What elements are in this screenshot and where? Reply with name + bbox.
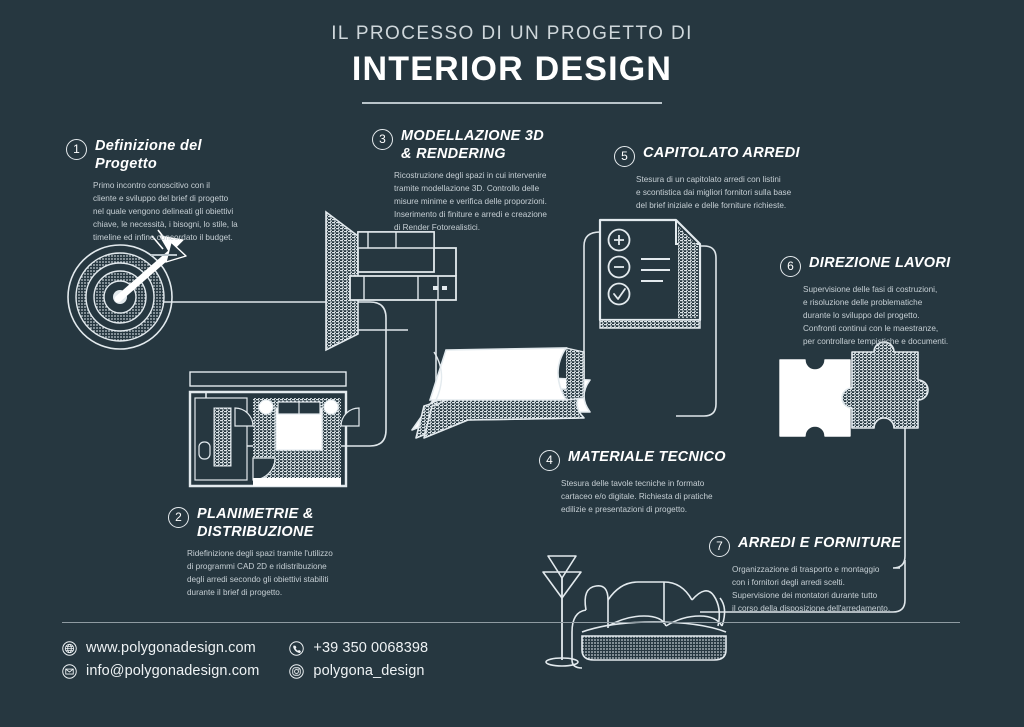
envelope-icon	[62, 664, 77, 679]
phone-icon	[289, 641, 304, 656]
puzzle-pieces-icon	[780, 342, 928, 436]
step-4-heading: 4 MATERIALE TECNICO	[539, 449, 744, 471]
contact-phone-text: +39 350 0068398	[313, 640, 428, 656]
step-3: 3 MODELLAZIONE 3D & RENDERING Ricostruzi…	[372, 128, 577, 235]
step-6-number: 6	[780, 256, 801, 277]
step-3-number: 3	[372, 129, 393, 150]
step-5-body: Stesura di un capitolato arredi con list…	[636, 174, 826, 213]
step-5-title: CAPITOLATO ARREDI	[643, 145, 800, 163]
step-7-heading: 7 ARREDI E FORNITURE	[709, 535, 914, 557]
step-6-heading: 6 DIREZIONE LAVORI	[780, 255, 980, 277]
step-6-body: Supervisione delle fasi di costruzioni, …	[803, 284, 978, 349]
step-1-underline	[151, 254, 177, 256]
poster-header: IL PROCESSO DI UN PROGETTO DI INTERIOR D…	[0, 24, 1024, 104]
step-2: 2 PLANIMETRIE & DISTRIBUZIONE Ridefinizi…	[168, 506, 383, 600]
step-7-body: Organizzazione di trasporto e montaggio …	[732, 564, 912, 616]
step-4-number: 4	[539, 450, 560, 471]
step-5-heading: 5 CAPITOLATO ARREDI	[614, 145, 824, 167]
step-2-heading: 2 PLANIMETRIE & DISTRIBUZIONE	[168, 506, 383, 541]
step-6-title: DIREZIONE LAVORI	[809, 255, 950, 273]
step-1-number: 1	[66, 139, 87, 160]
floor-plan-icon	[190, 372, 359, 486]
document-checklist-icon	[600, 220, 700, 328]
step-6: 6 DIREZIONE LAVORI Supervisione delle fa…	[780, 255, 980, 349]
step-3-heading: 3 MODELLAZIONE 3D & RENDERING	[372, 128, 577, 163]
step-5-number: 5	[614, 146, 635, 167]
contact-website[interactable]: www.polygonadesign.com	[62, 640, 259, 656]
step-3-body: Ricostruzione degli spazi in cui interve…	[394, 170, 574, 235]
page-title: INTERIOR DESIGN	[0, 51, 1024, 88]
step-2-title: PLANIMETRIE & DISTRIBUZIONE	[197, 506, 314, 541]
contact-phone[interactable]: +39 350 0068398	[289, 640, 428, 656]
instagram-icon	[289, 664, 304, 679]
header-kicker: IL PROCESSO DI UN PROGETTO DI	[0, 24, 1024, 45]
footer-divider	[62, 622, 960, 623]
contact-instagram[interactable]: polygona_design	[289, 663, 428, 679]
step-5: 5 CAPITOLATO ARREDI Stesura di un capito…	[614, 145, 824, 213]
step-7-number: 7	[709, 536, 730, 557]
sofa-lamp-icon	[543, 556, 726, 668]
globe-icon	[62, 641, 77, 656]
step-7-title: ARREDI E FORNITURE	[738, 535, 901, 553]
step-4-title: MATERIALE TECNICO	[568, 449, 726, 467]
step-7: 7 ARREDI E FORNITURE Organizzazione di t…	[709, 535, 914, 616]
step-4: 4 MATERIALE TECNICO Stesura delle tavole…	[539, 449, 744, 517]
step-1-title: Definizione del Progetto	[95, 138, 266, 173]
footer-contacts: www.polygonadesign.com info@polygonadesi…	[62, 640, 428, 679]
step-1-body: Primo incontro conoscitivo con il client…	[93, 180, 253, 245]
contact-column-right: +39 350 0068398 polygona_design	[289, 640, 428, 679]
step-1-heading: 1 Definizione del Progetto	[66, 138, 266, 173]
step-2-body: Ridefinizione degli spazi tramite l'util…	[187, 548, 377, 600]
header-divider	[362, 102, 662, 104]
contact-email-text: info@polygonadesign.com	[86, 663, 259, 679]
contact-instagram-text: polygona_design	[313, 663, 424, 679]
step-1: 1 Definizione del Progetto Primo incontr…	[66, 138, 266, 256]
infographic-poster: IL PROCESSO DI UN PROGETTO DI INTERIOR D…	[0, 0, 1024, 727]
illustration-layer	[0, 0, 1024, 727]
step-2-number: 2	[168, 507, 189, 528]
step-3-title: MODELLAZIONE 3D & RENDERING	[401, 128, 544, 163]
contact-email[interactable]: info@polygonadesign.com	[62, 663, 259, 679]
drawing-sheets-icon	[412, 348, 590, 438]
step-4-body: Stesura delle tavole tecniche in formato…	[561, 478, 741, 517]
contact-website-text: www.polygonadesign.com	[86, 640, 256, 656]
contact-column-left: www.polygonadesign.com info@polygonadesi…	[62, 640, 259, 679]
